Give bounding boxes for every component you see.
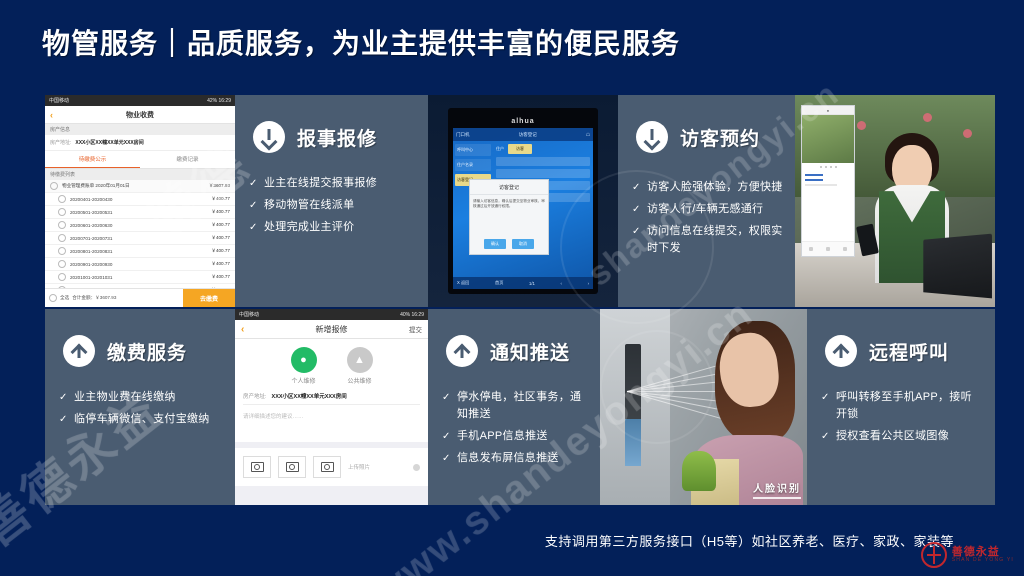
modal-cancel-button[interactable]: 取消	[512, 239, 534, 249]
checkbox-icon[interactable]	[50, 182, 58, 190]
back-button[interactable]: X 返回	[457, 280, 469, 286]
upload-label: 上传照片	[348, 463, 370, 471]
card-bullet-list: 业主在线提交报事报修 移动物管在线派单 处理完成业主评价	[235, 175, 428, 236]
overlay-toolbar	[802, 241, 854, 256]
modal-title: 访客登记	[470, 180, 548, 195]
list-item[interactable]	[496, 157, 590, 166]
checkbox-icon[interactable]	[58, 221, 66, 229]
content-grid: 中国移动 42% 16:29 ‹ 物业收费 房产信息 房产地址: XXX小区XX…	[45, 95, 995, 505]
address-row[interactable]: 房产地址: XXX小区XX幢XX单元XXX房间	[243, 385, 420, 405]
home-icon[interactable]: ☖	[586, 132, 590, 138]
address-label: 房产地址:	[243, 392, 267, 400]
modal-footer: 确认 取消	[470, 239, 548, 254]
sidebar-item-call-center[interactable]: 呼叫中心	[455, 144, 491, 156]
address-row: 房产地址: XXX小区XX幢XX单元XXX房间	[45, 135, 235, 151]
repair-type-personal[interactable]: ● 个人维修	[291, 347, 317, 385]
staff-photo: ●	[795, 95, 995, 307]
bill-period: 20200501-20200531	[70, 210, 207, 215]
table-row[interactable]: 20200501-20200531 ￥400.77	[45, 206, 235, 219]
bill-amount: ￥400.77	[211, 235, 230, 241]
vegetables	[682, 451, 716, 491]
intercom-tabs: 住户 访客	[496, 144, 590, 154]
card-header: 访客预约	[618, 95, 795, 153]
down-arrow-icon	[253, 121, 285, 153]
address-value: XXX小区XX幢XX单元XXX房间	[272, 392, 347, 400]
list-item: 授权查看公共区域图像	[821, 428, 983, 445]
camera-icon	[286, 462, 299, 472]
camera-icon	[321, 462, 334, 472]
overlay-dots	[802, 163, 854, 171]
bill-period: 20200701-20200731	[70, 236, 207, 241]
list-item: 业主物业费在线缴纳	[59, 389, 223, 406]
status-carrier: 中国移动	[239, 311, 259, 318]
phone-ui-overlay: ●	[801, 105, 855, 257]
tab-resident[interactable]: 住户	[496, 146, 504, 152]
intercom-screen: 门口机 访客登记 ☖ 呼叫中心 住户名录 访客登记	[453, 128, 593, 289]
overlay-camera-image	[802, 115, 854, 163]
brand-name-en: SHAN DE YONG YI	[952, 558, 1014, 563]
repair-form: ● 个人维修 ▲ 公共维修 房产地址: XXX小区XX幢XX单元XXX房间 请详…	[235, 339, 428, 442]
bill-list[interactable]: 物业管理费账单 2020年01月01日 ￥3607.93 20200401-20…	[45, 180, 235, 288]
table-row[interactable]: 20201001-20201031 ￥400.77	[45, 271, 235, 284]
bill-period: 20200801-20200831	[70, 249, 207, 254]
bill-period: 20200401-20200430	[70, 197, 207, 202]
card-remote-call: 远程呼叫 呼叫转移至手机APP，接听开锁 授权查看公共区域图像	[807, 309, 995, 505]
table-row[interactable]: 20200901-20200930 ￥400.77	[45, 258, 235, 271]
checkbox-icon[interactable]	[58, 195, 66, 203]
repair-type-public-label: 公共维修	[347, 376, 373, 385]
brand-logo: 善德永益 SHAN DE YONG YI	[921, 542, 1014, 568]
status-carrier: 中国移动	[49, 97, 69, 104]
photo-upload-row: 上传照片	[235, 448, 428, 486]
card-bullet-list: 停水停电，社区事务，通知推送 手机APP信息推送 信息发布屏信息推送	[428, 389, 600, 467]
tab-unpaid[interactable]: 待缴费公示	[45, 151, 140, 168]
card-header: 缴费服务	[45, 309, 235, 367]
phone-status-bar: 中国移动 42% 16:29	[45, 95, 235, 106]
page-title-text: 物管服务｜品质服务，为业主提供丰富的便民服务	[42, 22, 680, 62]
tab-visitor[interactable]: 访客	[508, 144, 532, 154]
intercom-photo: alhua 门口机 访客登记 ☖ 呼叫中心 住户名录 访客登记	[428, 95, 618, 307]
next-page-icon[interactable]: ›	[588, 281, 589, 286]
status-battery-time: 42% 16:29	[207, 98, 231, 104]
card-title: 通知推送	[490, 338, 570, 365]
address-label: 房产地址:	[50, 139, 71, 146]
flower-decoration	[963, 129, 972, 138]
intercom-top-title: 访客登记	[519, 132, 537, 138]
bill-amount: ￥400.77	[211, 274, 230, 280]
list-item: 信息发布屏信息推送	[442, 450, 588, 467]
list-item: 临停车辆微信、支付宝缴纳	[59, 411, 223, 428]
table-row[interactable]: 20200401-20200430 ￥400.77	[45, 193, 235, 206]
checkbox-icon[interactable]	[58, 273, 66, 281]
bill-period: 20200901-20200930	[70, 262, 207, 267]
overlay-text-lines	[802, 171, 854, 189]
submit-button[interactable]: 提交	[409, 324, 422, 334]
page-indicator: 1/1	[529, 281, 535, 286]
select-all-label: 全选	[60, 295, 69, 301]
info-panel: 访客预约 访客人脸强体验，方便快捷 访客人行/车辆无感通行 访问信息在线提交，权…	[618, 95, 795, 307]
photo-caption: 人脸识别	[753, 480, 801, 499]
modal-body-text: 请输入访客信息，确认后提交至物业审核，审核通过后开放通行权限。	[470, 195, 548, 239]
select-all-checkbox-icon[interactable]	[49, 294, 57, 302]
bill-amount: ￥400.77	[211, 196, 230, 202]
section-label: 房产信息	[45, 124, 235, 135]
bill-period: 20201001-20201031	[70, 275, 207, 280]
phone-nav-bar: ‹ 物业收费	[45, 106, 235, 124]
bill-total-row[interactable]: 物业管理费账单 2020年01月01日 ￥3607.93	[45, 180, 235, 193]
modal-confirm-button[interactable]: 确认	[484, 239, 506, 249]
photo-face-recognition: 人脸识别	[600, 309, 807, 505]
footer-note: 支持调用第三方服务接口（H5等）如社区养老、医疗、家政、家装等	[545, 531, 954, 550]
more-options-icon[interactable]	[413, 464, 420, 471]
list-item: 手机APP信息推送	[442, 428, 588, 445]
brand-text: 善德永益 SHAN DE YONG YI	[952, 547, 1014, 564]
repair-type-personal-label: 个人维修	[291, 376, 317, 385]
intercom-top-left: 门口机	[456, 132, 470, 138]
description-input[interactable]: 请详细描述您的建议……	[243, 405, 420, 436]
down-arrow-icon	[636, 121, 668, 153]
dahua-brand-label: alhua	[453, 118, 593, 125]
bill-period: 20200601-20200630	[70, 223, 207, 228]
screenshot-property-payment: 中国移动 42% 16:29 ‹ 物业收费 房产信息 房产地址: XXX小区XX…	[45, 95, 235, 307]
bill-amount: ￥400.77	[211, 261, 230, 267]
flower-decoration	[857, 121, 866, 130]
face-recognition-scene: 人脸识别	[600, 309, 807, 505]
laptop	[923, 234, 992, 299]
building-icon: ▲	[347, 347, 373, 373]
up-arrow-icon	[825, 335, 857, 367]
bill-amount: ￥400.77	[211, 209, 230, 215]
table-row[interactable]: 20200701-20200731 ￥400.77	[45, 232, 235, 245]
up-arrow-icon	[63, 335, 95, 367]
intercom-bottom-bar: X 返回 首页 1/1 ‹ ›	[453, 277, 593, 289]
payment-tabs: 待缴费公示 缴费记录	[45, 151, 235, 169]
list-item: 移动物管在线派单	[249, 197, 416, 214]
face-scan-beam	[627, 348, 722, 434]
phone-repair-app: 中国移动 40% 16:29 ‹ 新增报修 提交 ● 个人维修	[235, 309, 428, 505]
card-payment-service: 缴费服务 业主物业费在线缴纳 临停车辆微信、支付宝缴纳	[45, 309, 235, 505]
overlay-title-bar: ●	[802, 106, 854, 115]
status-battery-time: 40% 16:29	[400, 312, 424, 318]
card-title: 报事报修	[297, 124, 377, 151]
tab-history[interactable]: 缴费记录	[140, 151, 235, 168]
intercom-device: alhua 门口机 访客登记 ☖ 呼叫中心 住户名录 访客登记	[448, 108, 598, 294]
card-notification-push: 通知推送 停水停电，社区事务，通知推送 手机APP信息推送 信息发布屏信息推送	[428, 309, 600, 505]
repair-type-public[interactable]: ▲ 公共维修	[347, 347, 373, 385]
table-row[interactable]: 20200601-20200630 ￥400.77	[45, 219, 235, 232]
list-item: 访客人脸强体验，方便快捷	[632, 179, 783, 196]
info-panel: 远程呼叫 呼叫转移至手机APP，接听开锁 授权查看公共区域图像	[807, 309, 995, 505]
list-item: 停水停电，社区事务，通知推送	[442, 389, 588, 423]
card-bullet-list: 呼叫转移至手机APP，接听开锁 授权查看公共区域图像	[807, 389, 995, 445]
list-item: 访问信息在线提交，权限实时下发	[632, 223, 783, 257]
prev-page-icon[interactable]: ‹	[561, 281, 562, 286]
card-report-repair: 报事报修 业主在线提交报事报修 移动物管在线派单 处理完成业主评价	[235, 95, 428, 307]
intercom-modal-dialog: 访客登记 请输入访客信息，确认后提交至物业审核，审核通过后开放通行权限。 确认 …	[469, 179, 549, 255]
pay-button[interactable]: 去缴费	[183, 289, 235, 307]
table-row[interactable]: 20200801-20200831 ￥400.77	[45, 245, 235, 258]
bill-total-name: 物业管理费账单 2020年01月01日	[62, 183, 205, 189]
info-panel: 通知推送 停水停电，社区事务，通知推送 手机APP信息推送 信息发布屏信息推送	[428, 309, 600, 505]
photo-slot[interactable]	[278, 456, 306, 478]
checkbox-icon[interactable]	[58, 234, 66, 242]
bill-amount: ￥400.77	[211, 248, 230, 254]
list-item: 呼叫转移至手机APP，接听开锁	[821, 389, 983, 423]
photo-concierge: ●	[795, 95, 995, 307]
photo-slot[interactable]	[243, 456, 271, 478]
payment-footer: 全选 合计金额：￥3607.93 去缴费	[45, 288, 235, 307]
phone-status-bar: 中国移动 40% 16:29	[235, 309, 428, 320]
list-header: 待缴费列表	[45, 169, 235, 180]
intercom-body: 呼叫中心 住户名录 访客登记 住户 访客	[453, 141, 593, 277]
screenshot-new-repair: 中国移动 40% 16:29 ‹ 新增报修 提交 ● 个人维修	[235, 309, 428, 505]
repair-type-selector: ● 个人维修 ▲ 公共维修	[243, 347, 420, 385]
back-chevron-icon[interactable]: ‹	[50, 110, 53, 120]
person-icon: ●	[291, 347, 317, 373]
page-title: 物管服务｜品质服务，为业主提供丰富的便民服务	[42, 22, 680, 62]
card-title: 远程呼叫	[869, 338, 949, 365]
nav-title: 新增报修	[316, 324, 348, 335]
phone-nav-bar: ‹ 新增报修 提交	[235, 320, 428, 339]
presentation-slide: 物管服务｜品质服务，为业主提供丰富的便民服务 中国移动 42% 16:29 ‹ …	[0, 0, 1024, 576]
card-title: 缴费服务	[107, 338, 187, 365]
back-chevron-icon[interactable]: ‹	[241, 324, 244, 335]
intercom-top-bar: 门口机 访客登记 ☖	[453, 128, 593, 141]
bill-amount: ￥400.77	[211, 222, 230, 228]
screenshot-dahua-intercom: alhua 门口机 访客登记 ☖ 呼叫中心 住户名录 访客登记	[428, 95, 618, 307]
card-bullet-list: 访客人脸强体验，方便快捷 访客人行/车辆无感通行 访问信息在线提交，权限实时下发	[618, 179, 795, 257]
up-arrow-icon	[446, 335, 478, 367]
checkbox-icon[interactable]	[58, 208, 66, 216]
bill-total-amount: ￥3607.93	[209, 183, 230, 189]
address-value: XXX小区XX幢XX单元XXX房间	[75, 139, 143, 146]
nav-title: 物业收费	[126, 110, 154, 120]
photo-slot[interactable]	[313, 456, 341, 478]
home-button[interactable]: 首页	[495, 280, 503, 286]
card-visitor-reservation: 访客预约 访客人脸强体验，方便快捷 访客人行/车辆无感通行 访问信息在线提交，权…	[618, 95, 795, 307]
card-title: 访客预约	[680, 124, 760, 151]
total-label: 合计金额：￥3607.93	[72, 295, 116, 301]
card-header: 通知推送	[428, 309, 600, 367]
checkbox-icon[interactable]	[58, 260, 66, 268]
sidebar-item-directory[interactable]: 住户名录	[455, 159, 491, 171]
list-item: 处理完成业主评价	[249, 219, 416, 236]
list-item: 访客人行/车辆无感通行	[632, 201, 783, 218]
list-item: 业主在线提交报事报修	[249, 175, 416, 192]
info-panel: 缴费服务 业主物业费在线缴纳 临停车辆微信、支付宝缴纳	[45, 309, 235, 505]
card-bullet-list: 业主物业费在线缴纳 临停车辆微信、支付宝缴纳	[45, 389, 235, 428]
camera-icon	[251, 462, 264, 472]
list-item[interactable]	[496, 169, 590, 178]
checkbox-icon[interactable]	[58, 247, 66, 255]
brand-logo-icon	[921, 542, 947, 568]
flower-decoration	[923, 113, 932, 122]
phone-payment-app: 中国移动 42% 16:29 ‹ 物业收费 房产信息 房产地址: XXX小区XX…	[45, 95, 235, 307]
card-header: 报事报修	[235, 95, 428, 153]
info-panel: 报事报修 业主在线提交报事报修 移动物管在线派单 处理完成业主评价	[235, 95, 428, 307]
payment-summary: 全选 合计金额：￥3607.93	[45, 294, 183, 302]
card-header: 远程呼叫	[807, 309, 995, 367]
